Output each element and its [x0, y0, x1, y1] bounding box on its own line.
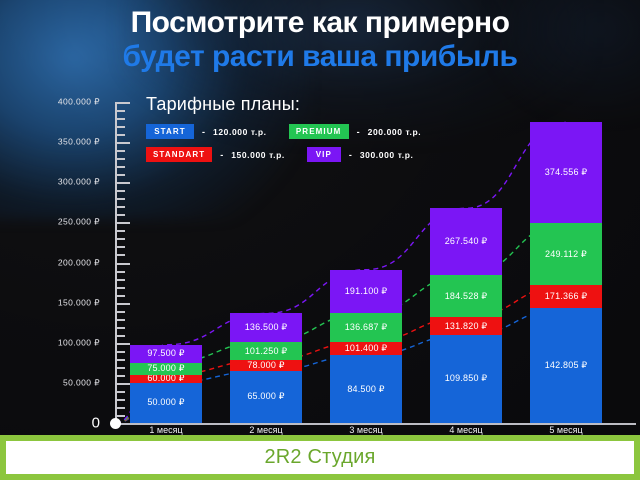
bar-value-label: 374.556 ₽: [545, 167, 588, 178]
bar-value-label: 136.687 ₽: [345, 322, 388, 333]
bar-value-label: 84.500 ₽: [347, 384, 384, 395]
bar-segment[interactable]: 136.500 ₽: [230, 313, 302, 341]
legend-price-start: 120.000 т.р.: [213, 127, 267, 137]
x-axis-label: 2 месяц: [249, 425, 282, 435]
bar-value-label: 131.820 ₽: [445, 321, 488, 332]
brand-name: 2R2 Студия: [264, 446, 375, 469]
bar-value-label: 101.400 ₽: [345, 343, 388, 354]
bar-segment[interactable]: 249.112 ₽: [530, 223, 602, 285]
legend-separator: -: [220, 150, 223, 160]
badge-standart: STANDART: [146, 147, 212, 162]
bar-segment[interactable]: 60.000 ₽: [130, 375, 202, 383]
x-axis-label: 4 месяц: [449, 425, 482, 435]
legend-item-vip[interactable]: VIP - 300.000 т.р.: [307, 147, 414, 162]
badge-premium: PREMIUM: [289, 124, 349, 139]
footer-banner-inner: 2R2 Студия: [6, 441, 634, 474]
bar-value-label: 65.000 ₽: [247, 391, 284, 402]
legend-price-standart: 150.000 т.р.: [231, 150, 285, 160]
bar-group[interactable]: 374.556 ₽249.112 ₽171.366 ₽142.805 ₽: [530, 102, 602, 423]
bar-value-label: 97.500 ₽: [147, 348, 184, 359]
bar-segment[interactable]: 267.540 ₽: [430, 208, 502, 275]
legend-price-vip: 300.000 т.р.: [360, 150, 414, 160]
legend-item-standart[interactable]: STANDART - 150.000 т.р.: [146, 147, 285, 162]
bar-value-label: 50.000 ₽: [147, 397, 184, 408]
bar-segment[interactable]: 109.850 ₽: [430, 335, 502, 423]
bar-group[interactable]: 267.540 ₽184.528 ₽131.820 ₽109.850 ₽: [430, 102, 502, 423]
legend-rows: START - 120.000 т.р. PREMIUM - 200.000 т…: [146, 124, 421, 162]
bar-segment[interactable]: 65.000 ₽: [230, 371, 302, 423]
bar-value-label: 109.850 ₽: [445, 373, 488, 384]
bar-segment[interactable]: 75.000 ₽: [130, 363, 202, 375]
legend-item-premium[interactable]: PREMIUM - 200.000 т.р.: [289, 124, 422, 139]
bar-segment[interactable]: 78.000 ₽: [230, 360, 302, 370]
legend-row-2: STANDART - 150.000 т.р. VIP - 300.000 т.…: [146, 147, 421, 162]
bar-segment[interactable]: 184.528 ₽: [430, 275, 502, 317]
footer-banner: 2R2 Студия: [0, 435, 640, 480]
bar-segment[interactable]: 136.687 ₽: [330, 313, 402, 341]
legend-separator: -: [349, 150, 352, 160]
legend-panel: Тарифные планы: START - 120.000 т.р. PRE…: [146, 94, 421, 162]
bar-value-label: 75.000 ₽: [147, 363, 184, 374]
x-axis-label: 1 месяц: [149, 425, 182, 435]
bar-value-label: 267.540 ₽: [445, 236, 488, 247]
bar-value-label: 136.500 ₽: [245, 322, 288, 333]
bar-segment[interactable]: 191.100 ₽: [330, 270, 402, 314]
slide-root: Посмотрите как примерно будет расти ваша…: [0, 0, 640, 480]
bar-value-label: 249.112 ₽: [545, 249, 587, 260]
bar-segment[interactable]: 101.250 ₽: [230, 342, 302, 361]
bar-segment[interactable]: 142.805 ₽: [530, 308, 602, 423]
badge-vip: VIP: [307, 147, 341, 162]
bar-segment[interactable]: 50.000 ₽: [130, 383, 202, 423]
bar-segment[interactable]: 171.366 ₽: [530, 285, 602, 308]
bar-segment[interactable]: 131.820 ₽: [430, 317, 502, 335]
title-line-1: Посмотрите как примерно: [0, 6, 640, 40]
origin-marker: [110, 418, 121, 429]
legend-separator: -: [357, 127, 360, 137]
badge-start: START: [146, 124, 194, 139]
legend-heading: Тарифные планы:: [146, 94, 421, 115]
bar-value-label: 142.805 ₽: [545, 360, 588, 371]
x-axis-label: 3 месяц: [349, 425, 382, 435]
bar-value-label: 60.000 ₽: [147, 375, 184, 383]
bar-segment[interactable]: 84.500 ₽: [330, 355, 402, 423]
page-title: Посмотрите как примерно будет расти ваша…: [0, 6, 640, 74]
bar-value-label: 184.528 ₽: [445, 291, 488, 302]
legend-item-start[interactable]: START - 120.000 т.р.: [146, 124, 267, 139]
bar-segment[interactable]: 374.556 ₽: [530, 122, 602, 223]
bar-value-label: 101.250 ₽: [245, 346, 288, 357]
bar-value-label: 171.366 ₽: [545, 291, 588, 302]
bar-value-label: 78.000 ₽: [247, 360, 284, 370]
bar-segment[interactable]: 97.500 ₽: [130, 345, 202, 363]
legend-row-1: START - 120.000 т.р. PREMIUM - 200.000 т…: [146, 124, 421, 139]
legend-price-premium: 200.000 т.р.: [368, 127, 422, 137]
title-line-2: будет расти ваша прибыль: [0, 40, 640, 74]
x-axis-label: 5 месяц: [549, 425, 582, 435]
bar-segment[interactable]: 101.400 ₽: [330, 342, 402, 356]
legend-separator: -: [202, 127, 205, 137]
bar-value-label: 191.100 ₽: [345, 286, 388, 297]
